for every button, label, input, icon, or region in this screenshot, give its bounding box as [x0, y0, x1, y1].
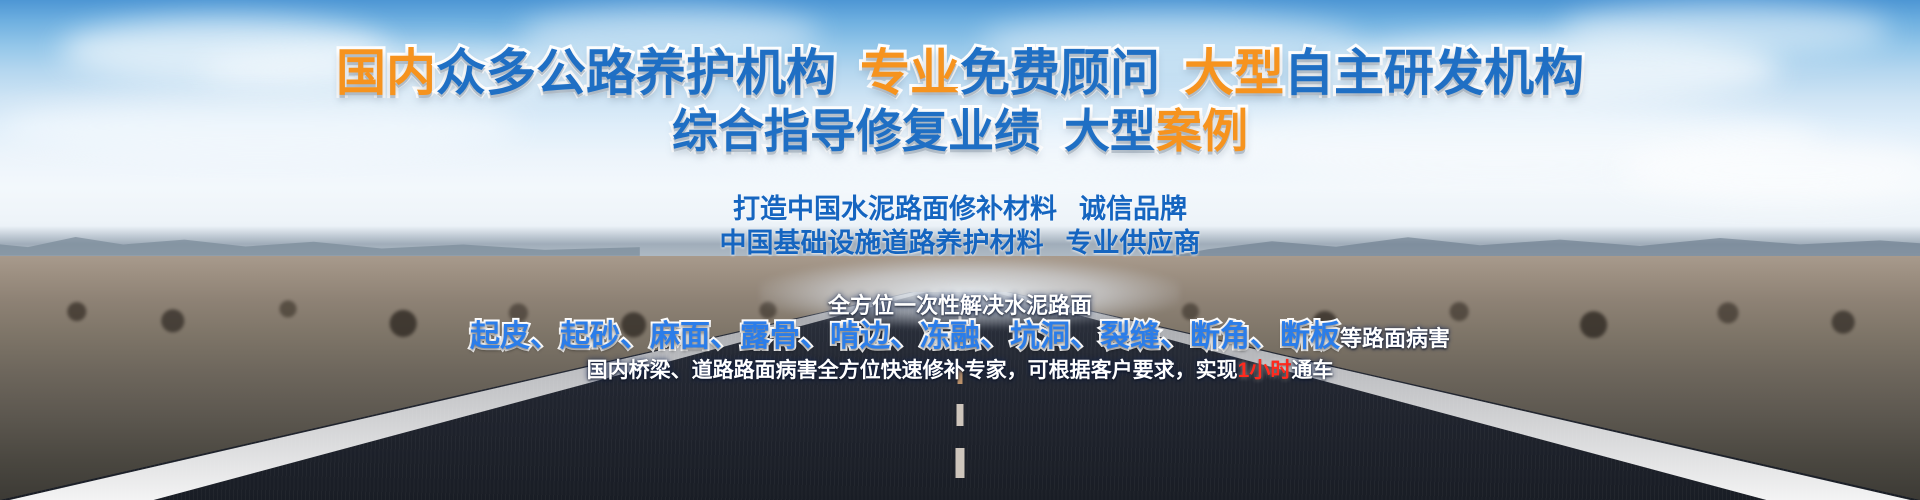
road-text-defects-list: 起皮、起砂、麻面、露骨、啃边、冻融、坑洞、裂缝、断角、断板 [470, 320, 1340, 353]
subtitle-1-text-a: 打造中国水泥路面修补材料 [733, 194, 1057, 224]
subtitle-line-1: 打造中国水泥路面修补材料诚信品牌 [0, 192, 1920, 226]
headline-1-part-6: 自主研发机构 [1284, 45, 1584, 101]
subtitle-1-text-b: 诚信品牌 [1079, 194, 1187, 224]
road-text-line-1: 全方位一次性解决水泥路面 [0, 292, 1920, 320]
road-text-3-b: 通车 [1291, 359, 1333, 382]
headline-line-2: 综合指导修复业绩大型案例 [0, 104, 1920, 158]
headline-1-part-3: 专业 [860, 45, 960, 101]
road-text-3-highlight: 1小时 [1238, 359, 1292, 382]
road-text-3-a: 国内桥梁、道路路面病害全方位快速修补专家，可根据客户要求，实现 [587, 359, 1238, 382]
road-text-line-3: 国内桥梁、道路路面病害全方位快速修补专家，可根据客户要求，实现1小时通车 [0, 358, 1920, 384]
headline-2-part-3: 案例 [1156, 105, 1248, 157]
headline-2-part-2: 大型 [1064, 105, 1156, 157]
subtitle-2-text-b: 专业供应商 [1066, 228, 1201, 258]
headline-1-part-4: 免费顾问 [960, 45, 1160, 101]
headline-1-part-5: 大型 [1184, 45, 1284, 101]
banner-text-stage: 国内众多公路养护机构专业免费顾问大型自主研发机构 综合指导修复业绩大型案例 打造… [0, 0, 1920, 500]
road-text-defects-suffix: 等路面病害 [1340, 326, 1450, 351]
headline-2-part-1: 综合指导修复业绩 [672, 105, 1040, 157]
promo-banner: 国内众多公路养护机构专业免费顾问大型自主研发机构 综合指导修复业绩大型案例 打造… [0, 0, 1920, 500]
subtitle-line-2: 中国基础设施道路养护材料专业供应商 [0, 226, 1920, 260]
headline-1-part-1: 国内 [336, 45, 436, 101]
headline-line-1: 国内众多公路养护机构专业免费顾问大型自主研发机构 [0, 44, 1920, 102]
headline-1-part-2: 众多公路养护机构 [436, 45, 836, 101]
road-text-line-2: 起皮、起砂、麻面、露骨、啃边、冻融、坑洞、裂缝、断角、断板等路面病害 [0, 318, 1920, 358]
subtitle-2-text-a: 中国基础设施道路养护材料 [720, 228, 1044, 258]
